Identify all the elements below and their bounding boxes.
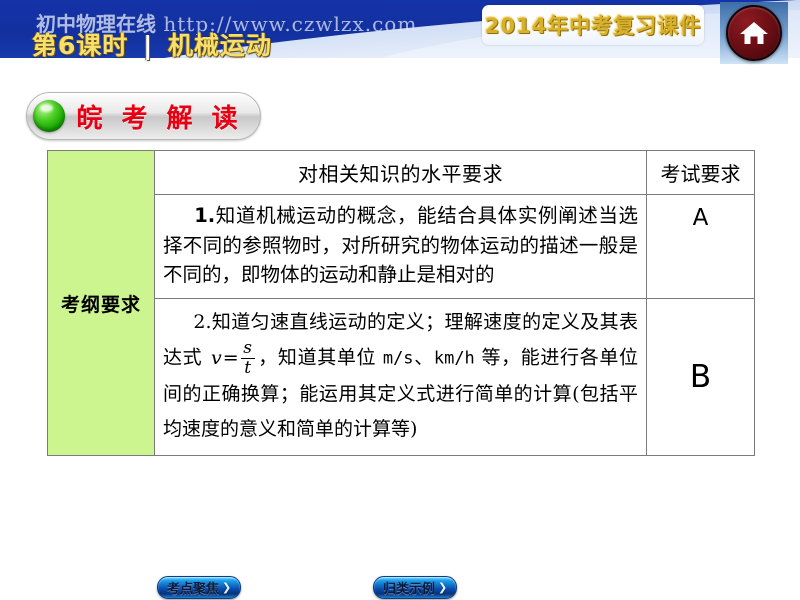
exam-requirements-table: 考纲要求 对相关知识的水平要求 考试要求 1.知道机械运动的概念，能结合具体实例… (47, 150, 755, 456)
home-button[interactable] (720, 2, 788, 64)
formula-fraction: st (241, 340, 255, 377)
formula-denominator: t (242, 359, 253, 377)
table-row: 2.知道匀速直线运动的定义；理解速度的定义及其表达式 v=st，知道其单位 m/… (48, 298, 755, 455)
section-title: 皖 考 解 读 (65, 98, 260, 135)
table-header-row: 考纲要求 对相关知识的水平要求 考试要求 (48, 151, 755, 195)
nav-button-key-points-label: 考点聚焦 (167, 578, 219, 597)
formula-variable: v (211, 341, 222, 376)
column-header-requirement: 考试要求 (647, 151, 755, 195)
speed-formula: v=st (211, 340, 256, 377)
section-header-pill: 皖 考 解 读 (26, 92, 261, 140)
requirement-level-1: A (647, 195, 755, 299)
page-title-topic: 机械运动 (168, 31, 272, 60)
requirement-body-2-part2: ，知道其单位 (258, 347, 377, 369)
course-banner: 2014年中考复习课件 (482, 5, 704, 45)
requirement-level-2: B (647, 298, 755, 455)
page-title-lesson: 第6课时 (32, 31, 128, 60)
home-icon (739, 19, 769, 47)
unit-meters-per-second: m/s (383, 349, 414, 369)
formula-equals: = (223, 341, 239, 376)
nav-button-key-points[interactable]: 考点聚焦 ❯ (157, 576, 241, 599)
requirement-body-1: 知道机械运动的概念，能结合具体实例阐述当选择不同的参照物时，对所研究的物体运动的… (163, 204, 638, 286)
requirement-body-2-part3: 、 (414, 347, 434, 369)
home-button-circle (726, 5, 782, 61)
requirement-text-1: 1.知道机械运动的概念，能结合具体实例阐述当选择不同的参照物时，对所研究的物体运… (155, 195, 647, 299)
table-row: 1.知道机械运动的概念，能结合具体实例阐述当选择不同的参照物时，对所研究的物体运… (48, 195, 755, 299)
requirement-number-2: 2. (193, 311, 211, 333)
chevron-right-icon: ❯ (438, 581, 447, 594)
page-title: 第6课时 | 机械运动 (32, 26, 272, 62)
course-banner-label: 2014年中考复习课件 (485, 10, 701, 40)
unit-kilometers-per-hour: km/h (434, 349, 475, 369)
page-title-separator: | (138, 31, 158, 60)
green-circle-icon (33, 100, 65, 132)
requirement-number-1: 1. (194, 204, 215, 227)
nav-button-examples[interactable]: 归类示例 ❯ (373, 576, 457, 599)
table-row-label-cell: 考纲要求 (48, 151, 155, 456)
table-row-label: 考纲要求 (61, 294, 141, 316)
chevron-right-icon: ❯ (222, 581, 231, 594)
formula-numerator: s (241, 340, 254, 358)
page-header: 初中物理在线 http://www.czwlzx.com 第6课时 | 机械运动… (0, 0, 800, 72)
requirement-text-2: 2.知道匀速直线运动的定义；理解速度的定义及其表达式 v=st，知道其单位 m/… (155, 298, 647, 455)
nav-button-examples-label: 归类示例 (383, 578, 435, 597)
column-header-knowledge: 对相关知识的水平要求 (155, 151, 647, 195)
